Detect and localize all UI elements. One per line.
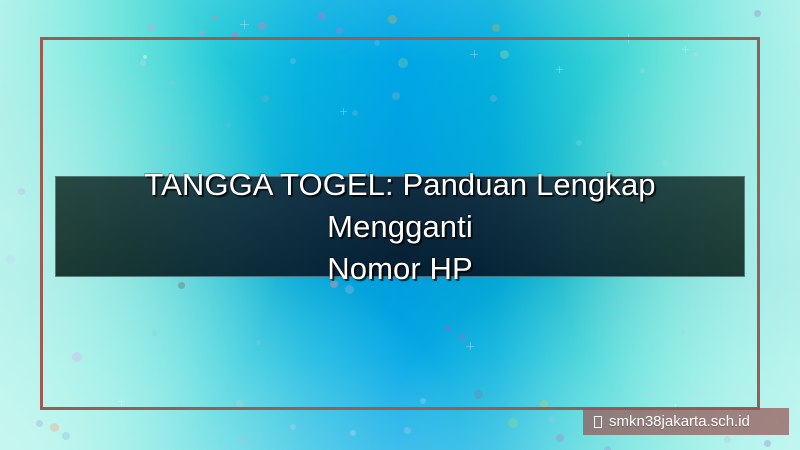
confetti-dot	[18, 188, 25, 195]
title-card: TANGGA TOGEL: Panduan Lengkap Mengganti …	[55, 176, 745, 277]
confetti-dot	[492, 24, 500, 32]
confetti-dot	[212, 15, 217, 20]
confetti-dot	[336, 27, 343, 34]
confetti-dot	[556, 434, 564, 442]
confetti-dot	[764, 440, 771, 447]
confetti-dot	[148, 24, 155, 31]
confetti-dot	[36, 420, 43, 427]
missing-glyph-box-icon	[594, 416, 602, 428]
confetti-dot	[238, 437, 245, 444]
site-domain-badge[interactable]: smkn38jakarta.sch.id	[583, 408, 789, 435]
confetti-dot	[604, 446, 611, 450]
promo-banner-canvas: TANGGA TOGEL: Panduan Lengkap Mengganti …	[0, 0, 800, 450]
confetti-dot	[508, 418, 518, 428]
confetti-dot	[548, 416, 555, 423]
page-title: TANGGA TOGEL: Panduan Lengkap Mengganti …	[70, 164, 730, 290]
confetti-dot	[754, 10, 761, 17]
site-domain-label: smkn38jakarta.sch.id	[609, 408, 750, 435]
confetti-dot	[50, 423, 59, 432]
confetti-dot	[258, 22, 266, 30]
confetti-dot	[404, 427, 411, 434]
confetti-dot	[200, 30, 205, 35]
confetti-dot	[290, 424, 296, 430]
confetti-dot	[724, 436, 731, 443]
confetti-dot	[350, 430, 356, 436]
confetti-dot	[62, 432, 70, 440]
confetti-spark	[240, 24, 249, 25]
confetti-dot	[318, 12, 326, 20]
confetti-dot	[388, 15, 397, 24]
confetti-dot	[6, 255, 15, 264]
